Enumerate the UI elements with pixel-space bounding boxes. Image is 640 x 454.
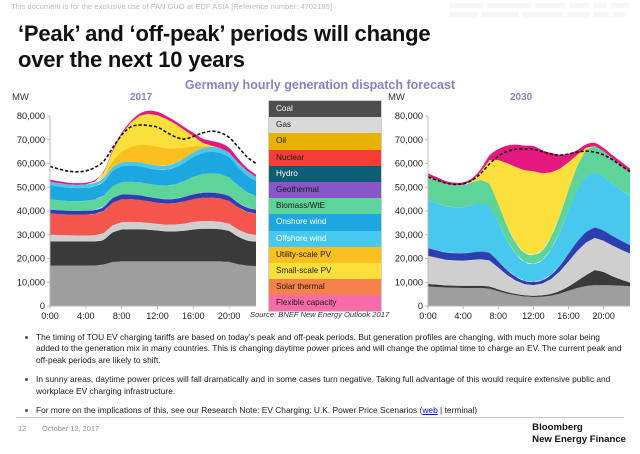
chart-legend: CoalGasOilNuclearHydroGeothermalBiomass/… — [268, 100, 382, 312]
y-axis-tick-label: 30,000 — [17, 230, 45, 240]
plot-area-2017: 010,00020,00030,00040,00050,00060,00070,… — [4, 110, 262, 326]
legend-item-label: Oil — [276, 136, 286, 145]
chart-source: Source: BNEF New Energy Outlook 2017 — [250, 310, 389, 319]
x-axis-tick-label: 0:00 — [419, 311, 437, 321]
web-link[interactable]: web — [422, 405, 437, 415]
disclaimer-text: This document is for the exclusive use o… — [11, 2, 332, 11]
legend-item-biomass-wte: Biomass/WtE — [269, 198, 381, 214]
plot-area-2030: 010,00020,00030,00040,00050,00060,00070,… — [384, 110, 636, 326]
legend-item-solar-thermal: Solar thermal — [269, 279, 381, 295]
x-axis-tick-label: 8:00 — [489, 311, 507, 321]
y-axis-tick-label: 60,000 — [17, 159, 45, 169]
x-axis-tick-label: 12:00 — [146, 311, 169, 321]
y-axis-tick-label: 10,000 — [395, 277, 423, 287]
y-axis-unit-label-right: MW — [388, 92, 405, 103]
y-axis-tick-label: 80,000 — [17, 111, 45, 121]
x-axis-tick-label: 20:00 — [218, 311, 241, 321]
y-axis-tick-label: 50,000 — [17, 182, 45, 192]
legend-item-flexible-capacity: Flexible capacity — [269, 295, 381, 311]
y-axis-tick-label: 10,000 — [17, 277, 45, 287]
y-axis-tick-label: 40,000 — [17, 206, 45, 216]
watermark-block — [449, 3, 634, 29]
x-axis-tick-label: 16:00 — [182, 311, 205, 321]
legend-item-label: Nuclear — [276, 153, 304, 162]
y-axis-tick-label: 60,000 — [395, 159, 423, 169]
legend-item-label: Hydro — [276, 169, 298, 178]
legend-item-coal: Coal — [269, 101, 381, 117]
y-axis-unit-label-left: MW — [12, 92, 29, 103]
y-axis-tick-label: 20,000 — [395, 254, 423, 264]
area-chart-2030: 010,00020,00030,00040,00050,00060,00070,… — [384, 110, 636, 326]
y-axis-tick-label: 0 — [40, 301, 45, 311]
bullet-item-research-note: For more on the implications of this, se… — [22, 405, 622, 416]
y-axis-tick-label: 70,000 — [17, 135, 45, 145]
slide: This document is for the exclusive use o… — [0, 0, 640, 454]
x-axis-tick-label: 4:00 — [77, 311, 95, 321]
brand-line-1: Bloomberg — [532, 422, 626, 434]
x-axis-tick-label: 12:00 — [522, 311, 545, 321]
legend-item-label: Flexible capacity — [276, 298, 337, 307]
y-axis-tick-label: 70,000 — [395, 135, 423, 145]
bullet-item: The timing of TOU EV charging tariffs ar… — [22, 332, 622, 366]
y-axis-tick-label: 30,000 — [395, 230, 423, 240]
page-title: ‘Peak’ and ‘off-peak’ periods will chang… — [18, 21, 438, 72]
x-axis-tick-label: 4:00 — [454, 311, 472, 321]
bullet3-mid: | — [438, 405, 445, 415]
x-axis-tick-label: 8:00 — [113, 311, 131, 321]
page-number: 12 — [18, 424, 26, 433]
panel-year-2017: 2017 — [130, 92, 152, 103]
legend-item-label: Solar thermal — [276, 282, 325, 291]
legend-item-label: Gas — [276, 120, 291, 129]
legend-item-label: Small-scale PV — [276, 266, 332, 275]
y-axis-tick-label: 20,000 — [17, 254, 45, 264]
x-axis-tick-label: 0:00 — [41, 311, 59, 321]
y-axis-tick-label: 80,000 — [395, 111, 423, 121]
legend-item-label: Geothermal — [276, 185, 319, 194]
legend-item-label: Onshore wind — [276, 217, 327, 226]
legend-item-small-scale-pv: Small-scale PV — [269, 263, 381, 279]
bullet-item: In sunny areas, daytime power prices wil… — [22, 374, 622, 397]
legend-item-nuclear: Nuclear — [269, 150, 381, 166]
brand-logo: Bloomberg New Energy Finance — [532, 422, 626, 446]
y-axis-tick-label: 40,000 — [395, 206, 423, 216]
area-chart-2017: 010,00020,00030,00040,00050,00060,00070,… — [4, 110, 262, 326]
x-axis-tick-label: 20:00 — [592, 311, 615, 321]
legend-item-offshore-wind: Offshore wind — [269, 231, 381, 247]
legend-item-hydro: Hydro — [269, 166, 381, 182]
legend-item-label: Coal — [276, 104, 293, 113]
footer-date: October 12, 2017 — [42, 424, 99, 433]
y-axis-tick-label: 50,000 — [395, 182, 423, 192]
x-axis-tick-label: 16:00 — [557, 311, 580, 321]
legend-item-onshore-wind: Onshore wind — [269, 214, 381, 230]
legend-item-gas: Gas — [269, 117, 381, 133]
bullet-list: The timing of TOU EV charging tariffs ar… — [22, 332, 622, 424]
series-area-coal — [50, 261, 256, 306]
legend-item-geothermal: Geothermal — [269, 182, 381, 198]
footer-divider — [16, 417, 624, 418]
bullet3-pre: For more on the implications of this, se… — [36, 405, 422, 415]
legend-item-oil: Oil — [269, 133, 381, 149]
legend-item-label: Biomass/WtE — [276, 201, 325, 210]
chart-panel-2030: MW 2030 010,00020,00030,00040,00050,0006… — [384, 88, 636, 326]
panel-year-2030: 2030 — [510, 92, 532, 103]
bullet3-post: terminal) — [445, 405, 478, 415]
legend-item-label: Offshore wind — [276, 234, 326, 243]
brand-line-2: New Energy Finance — [532, 434, 626, 446]
legend-item-utility-scale-pv: Utility-scale PV — [269, 247, 381, 263]
y-axis-tick-label: 0 — [418, 301, 423, 311]
chart-panel-2017: MW 2017 010,00020,00030,00040,00050,0006… — [4, 88, 262, 326]
legend-item-label: Utility-scale PV — [276, 250, 331, 259]
